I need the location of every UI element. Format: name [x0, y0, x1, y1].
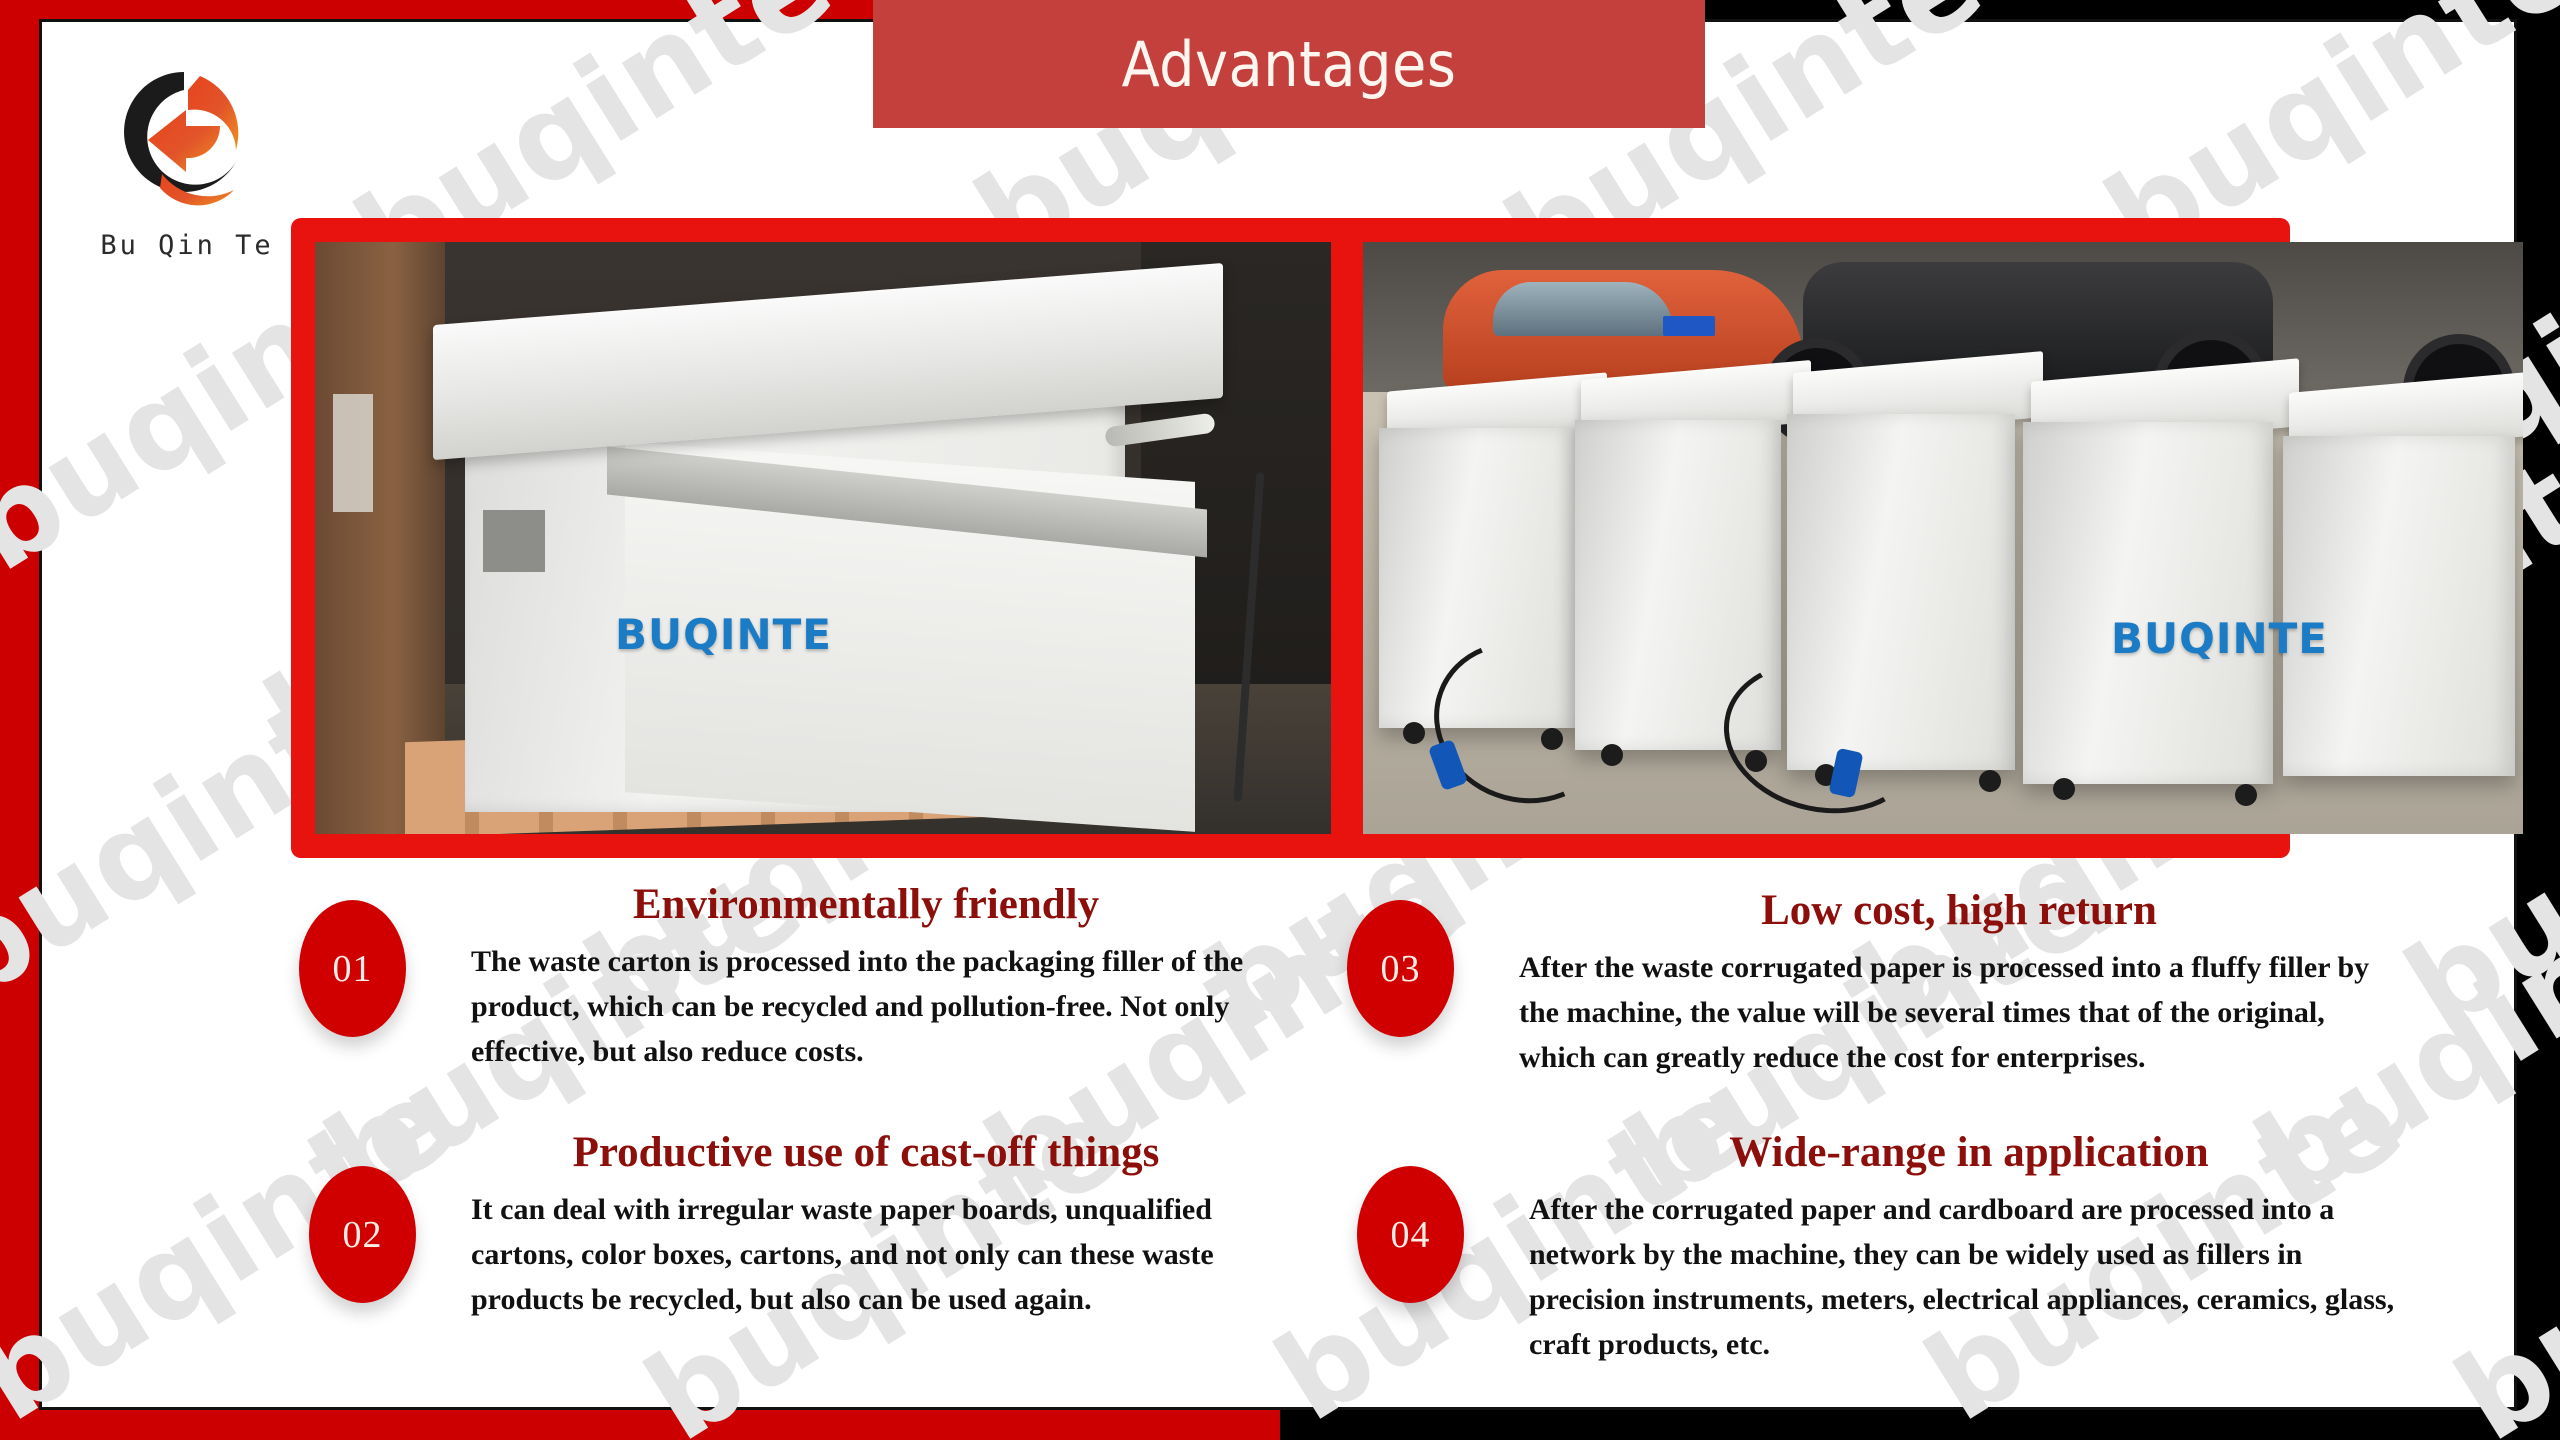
- brand-logo: Bu Qin Te: [72, 62, 302, 277]
- advantage-number: 02: [343, 1213, 383, 1257]
- advantage-number: 01: [333, 947, 373, 991]
- advantage-number-badge: 04: [1357, 1166, 1464, 1303]
- advantage-text: After the corrugated paper and cardboard…: [1529, 1187, 2409, 1367]
- advantage-text: The waste carton is processed into the p…: [471, 939, 1261, 1074]
- advantage-number: 03: [1381, 947, 1421, 991]
- advantage-number-badge: 03: [1347, 900, 1454, 1037]
- advantage-number-badge: 02: [309, 1166, 416, 1303]
- product-photo-indoor: BUQINTE: [315, 242, 1331, 834]
- advantage-heading: Wide-range in application: [1529, 1128, 2409, 1177]
- page-title: Advantages: [1122, 28, 1457, 101]
- photo-caption-buqinte: BUQINTE: [2111, 614, 2328, 663]
- advantage-heading: Low cost, high return: [1519, 886, 2399, 935]
- buqinte-swirl-e-logo-icon: [104, 62, 264, 222]
- photo-gallery: BUQINTE: [291, 218, 2290, 858]
- slide-title-banner: Advantages: [873, 0, 1705, 128]
- advantage-number: 04: [1391, 1213, 1431, 1257]
- advantage-heading: Environmentally friendly: [471, 880, 1261, 929]
- presentation-slide: buqintebuqintebuqintebuqintebuqintebuqin…: [0, 0, 2560, 1440]
- photo-caption-buqinte: BUQINTE: [615, 610, 832, 659]
- advantage-heading: Productive use of cast-off things: [471, 1128, 1261, 1177]
- brand-name: Bu Qin Te: [72, 230, 302, 261]
- advantage-text: After the waste corrugated paper is proc…: [1519, 945, 2399, 1080]
- advantage-text: It can deal with irregular waste paper b…: [471, 1187, 1261, 1322]
- product-photo-outdoor: BUQINTE: [1363, 242, 2523, 834]
- advantages-list: 01 Environmentally friendly The waste ca…: [291, 880, 2431, 1380]
- advantage-number-badge: 01: [299, 900, 406, 1037]
